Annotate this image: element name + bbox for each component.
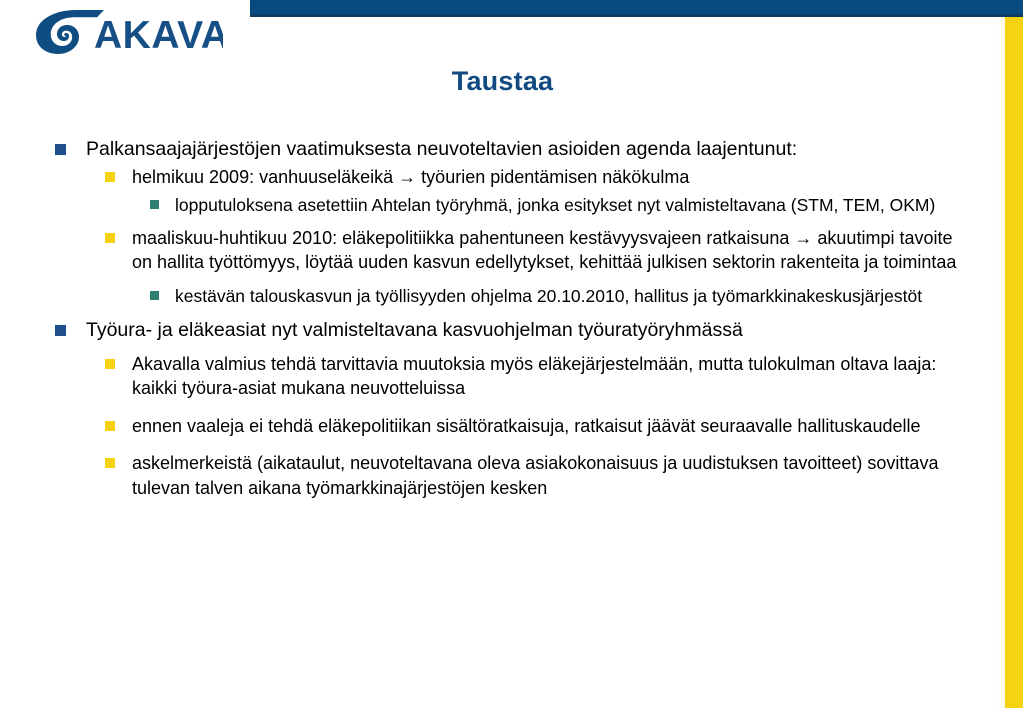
- right-edge-fade: [997, 17, 1005, 708]
- square-bullet-yellow-icon: [105, 421, 115, 431]
- header-navy-band: [250, 0, 1023, 14]
- bullet-item: Palkansaajajärjestöjen vaatimuksesta neu…: [55, 136, 965, 163]
- svg-text:AKAVA: AKAVA: [94, 14, 223, 56]
- square-bullet-yellow-icon: [105, 233, 115, 243]
- akava-logo: AKAVA: [18, 8, 223, 56]
- bullet-item: maaliskuu-huhtikuu 2010: eläkepolitiikka…: [105, 226, 965, 275]
- bullet-text: Palkansaajajärjestöjen vaatimuksesta neu…: [86, 136, 965, 163]
- square-bullet-teal-icon: [150, 291, 159, 300]
- bullet-item: Akavalla valmius tehdä tarvittavia muuto…: [105, 352, 965, 401]
- bullet-text: askelmerkeistä (aikataulut, neuvoteltava…: [132, 451, 965, 500]
- bullet-text: maaliskuu-huhtikuu 2010: eläkepolitiikka…: [132, 226, 965, 275]
- spacer: [55, 441, 965, 451]
- bullet-text: kestävän talouskasvun ja työllisyyden oh…: [175, 284, 965, 308]
- square-bullet-teal-icon: [150, 200, 159, 209]
- square-bullet-yellow-icon: [105, 458, 115, 468]
- right-yellow-band: [1005, 17, 1023, 708]
- square-bullet-yellow-icon: [105, 359, 115, 369]
- bullet-item: Työura- ja eläkeasiat nyt valmisteltavan…: [55, 317, 965, 344]
- page-title: Taustaa: [0, 66, 1005, 97]
- bullet-text: lopputuloksena asetettiin Ahtelan työryh…: [175, 193, 965, 217]
- bullet-item: lopputuloksena asetettiin Ahtelan työryh…: [150, 193, 965, 217]
- bullet-text: ennen vaaleja ei tehdä eläkepolitiikan s…: [132, 414, 965, 439]
- header-navy-band-shadow: [250, 14, 1023, 17]
- bullet-item: helmikuu 2009: vanhuuseläkeikä → työurie…: [105, 165, 965, 190]
- bullet-item: ennen vaaleja ei tehdä eläkepolitiikan s…: [105, 414, 965, 439]
- bullet-item: kestävän talouskasvun ja työllisyyden oh…: [150, 284, 965, 308]
- spacer: [55, 404, 965, 414]
- square-bullet-yellow-icon: [105, 172, 115, 182]
- square-bullet-navy-icon: [55, 325, 66, 336]
- bullet-text: helmikuu 2009: vanhuuseläkeikä → työurie…: [132, 165, 965, 190]
- bullet-item: askelmerkeistä (aikataulut, neuvoteltava…: [105, 451, 965, 500]
- bullet-text: Akavalla valmius tehdä tarvittavia muuto…: [132, 352, 965, 401]
- bullet-text: Työura- ja eläkeasiat nyt valmisteltavan…: [86, 317, 965, 344]
- slide-content: Palkansaajajärjestöjen vaatimuksesta neu…: [55, 136, 965, 503]
- akava-spiral-logo: AKAVA: [18, 8, 223, 56]
- square-bullet-navy-icon: [55, 144, 66, 155]
